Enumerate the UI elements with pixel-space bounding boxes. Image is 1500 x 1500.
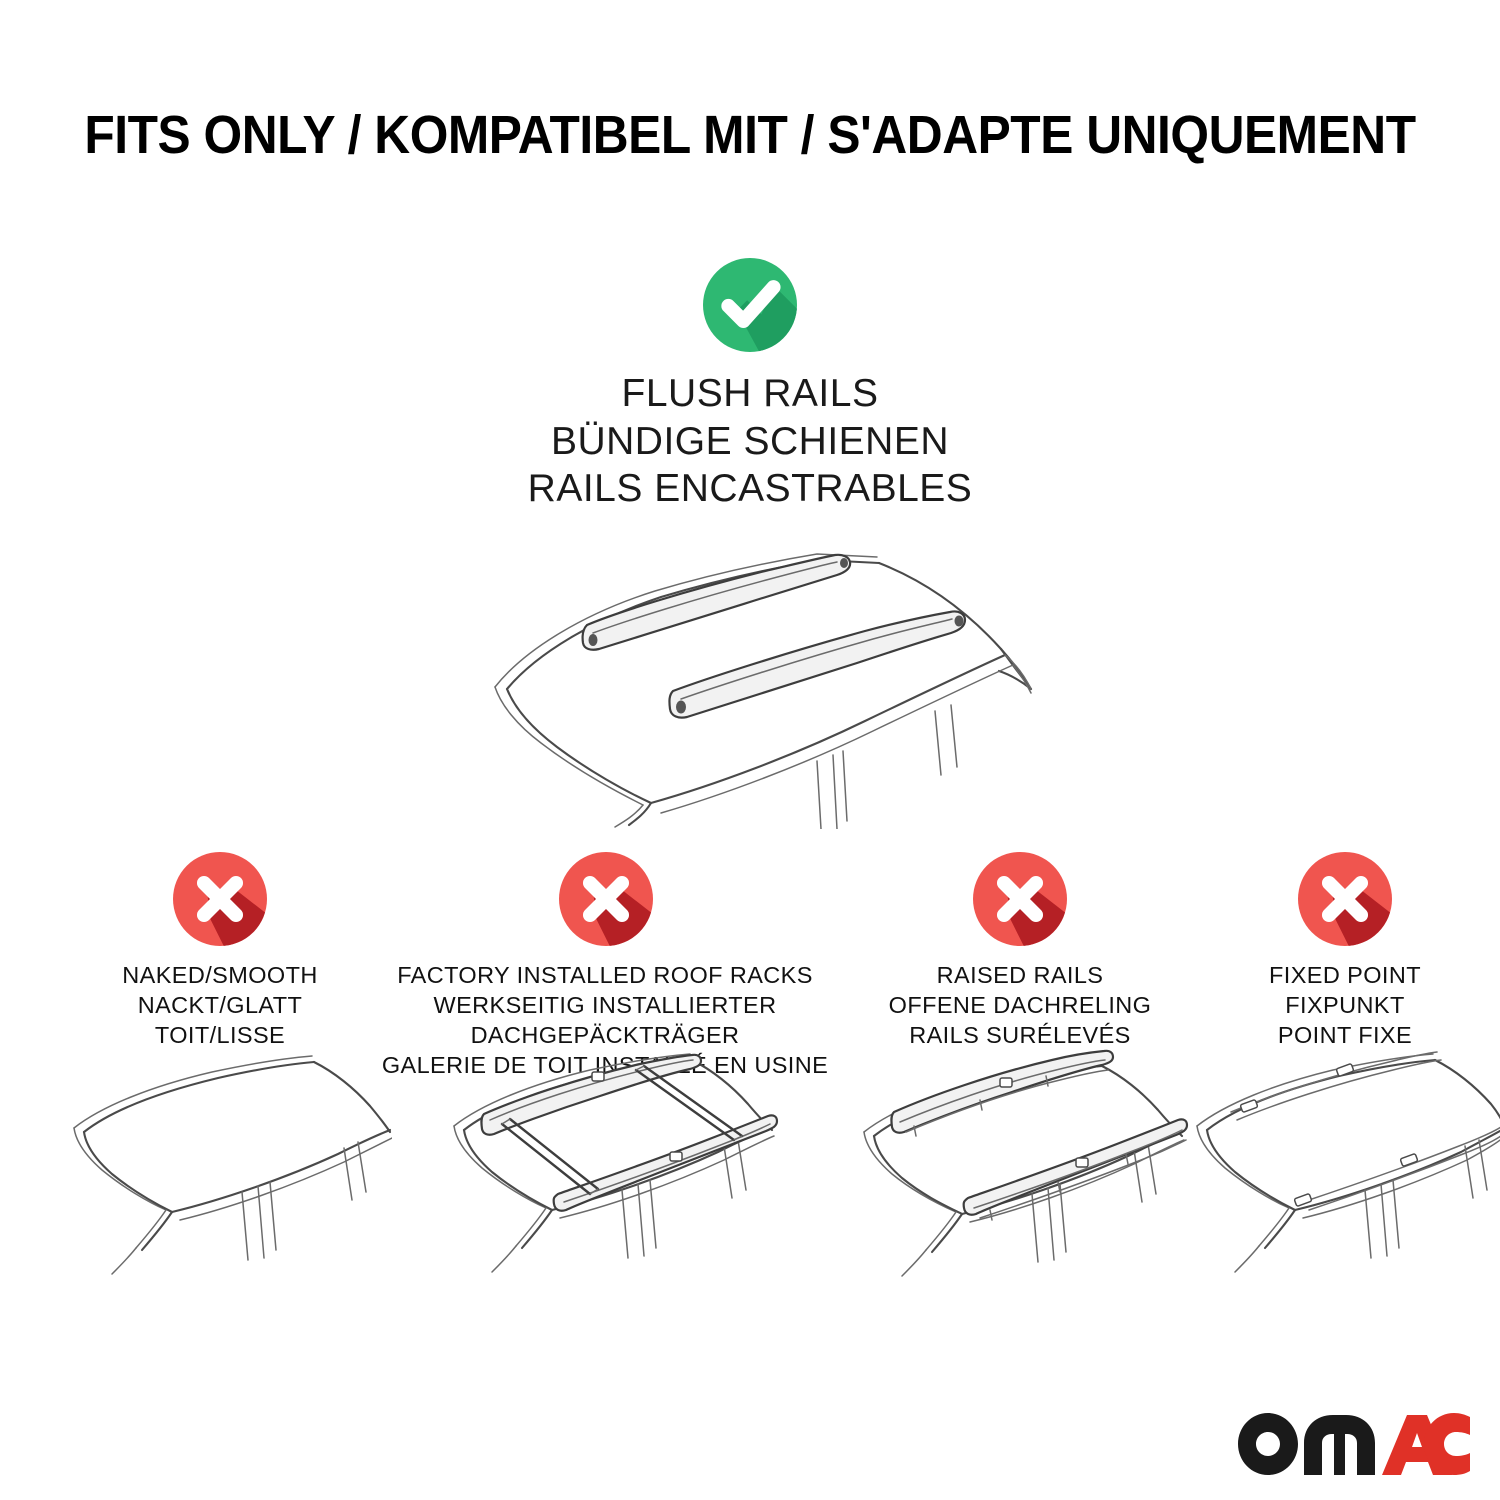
rejected-label-fixed-point: FIXED POINT FIXPUNKT POINT FIXE <box>1195 960 1495 1050</box>
x-circle-icon <box>559 852 653 946</box>
label-line-2: WERKSEITIG INSTALLIERTER <box>370 990 840 1020</box>
label-line-3: DACHGEPÄCKTRÄGER <box>370 1020 840 1050</box>
label-line-2: NACKT/GLATT <box>55 990 385 1020</box>
approved-section: FLUSH RAILS BÜNDIGE SCHIENEN RAILS ENCAS… <box>0 258 1500 829</box>
car-roof-factory-racks-illustration <box>440 1048 780 1278</box>
omac-logo <box>1238 1413 1470 1475</box>
x-mark-glyph <box>559 852 653 946</box>
approved-label-line-1: FLUSH RAILS <box>0 370 1500 418</box>
check-circle-icon <box>703 258 797 352</box>
x-circle-icon <box>973 852 1067 946</box>
rejected-label-raised-rails: RAISED RAILS OFFENE DACHRELING RAILS SUR… <box>855 960 1185 1050</box>
label-line-1: FIXED POINT <box>1195 960 1495 990</box>
logo-letter-m <box>1304 1415 1375 1475</box>
approved-label-line-2: BÜNDIGE SCHIENEN <box>0 418 1500 466</box>
x-mark-glyph <box>1298 852 1392 946</box>
label-line-3: POINT FIXE <box>1195 1020 1495 1050</box>
label-line-3: TOIT/LISSE <box>55 1020 385 1050</box>
page-title: FITS ONLY / KOMPATIBEL MIT / S'ADAPTE UN… <box>60 104 1440 166</box>
label-line-2: OFFENE DACHRELING <box>855 990 1185 1020</box>
rejected-column-raised-rails: RAISED RAILS OFFENE DACHRELING RAILS SUR… <box>855 852 1185 1080</box>
car-roof-naked-illustration <box>62 1050 392 1280</box>
label-line-3: RAILS SURÉLEVÉS <box>855 1020 1185 1050</box>
rejected-section: NAKED/SMOOTH NACKT/GLATT TOIT/LISSE <box>0 852 1500 1080</box>
approved-label: FLUSH RAILS BÜNDIGE SCHIENEN RAILS ENCAS… <box>0 370 1500 513</box>
label-line-1: NAKED/SMOOTH <box>55 960 385 990</box>
x-mark-glyph <box>173 852 267 946</box>
logo-letter-o <box>1238 1413 1298 1475</box>
x-circle-icon <box>173 852 267 946</box>
label-line-2: FIXPUNKT <box>1195 990 1495 1020</box>
label-line-1: RAISED RAILS <box>855 960 1185 990</box>
x-circle-icon <box>1298 852 1392 946</box>
x-mark-glyph <box>973 852 1067 946</box>
label-line-1: FACTORY INSTALLED ROOF RACKS <box>370 960 840 990</box>
car-roof-fixed-point-illustration <box>1185 1050 1500 1280</box>
rejected-label-naked: NAKED/SMOOTH NACKT/GLATT TOIT/LISSE <box>55 960 385 1050</box>
check-mark-glyph <box>703 258 797 352</box>
rejected-column-fixed-point: FIXED POINT FIXPUNKT POINT FIXE <box>1195 852 1495 1080</box>
rejected-column-naked: NAKED/SMOOTH NACKT/GLATT TOIT/LISSE <box>55 852 385 1080</box>
car-roof-flush-rails-illustration <box>0 529 1500 829</box>
rejected-column-factory-racks: FACTORY INSTALLED ROOF RACKS WERKSEITIG … <box>370 852 840 1080</box>
fitment-infographic: FITS ONLY / KOMPATIBEL MIT / S'ADAPTE UN… <box>0 0 1500 1500</box>
car-roof-raised-rails-illustration <box>850 1048 1190 1278</box>
approved-label-line-3: RAILS ENCASTRABLES <box>0 465 1500 513</box>
